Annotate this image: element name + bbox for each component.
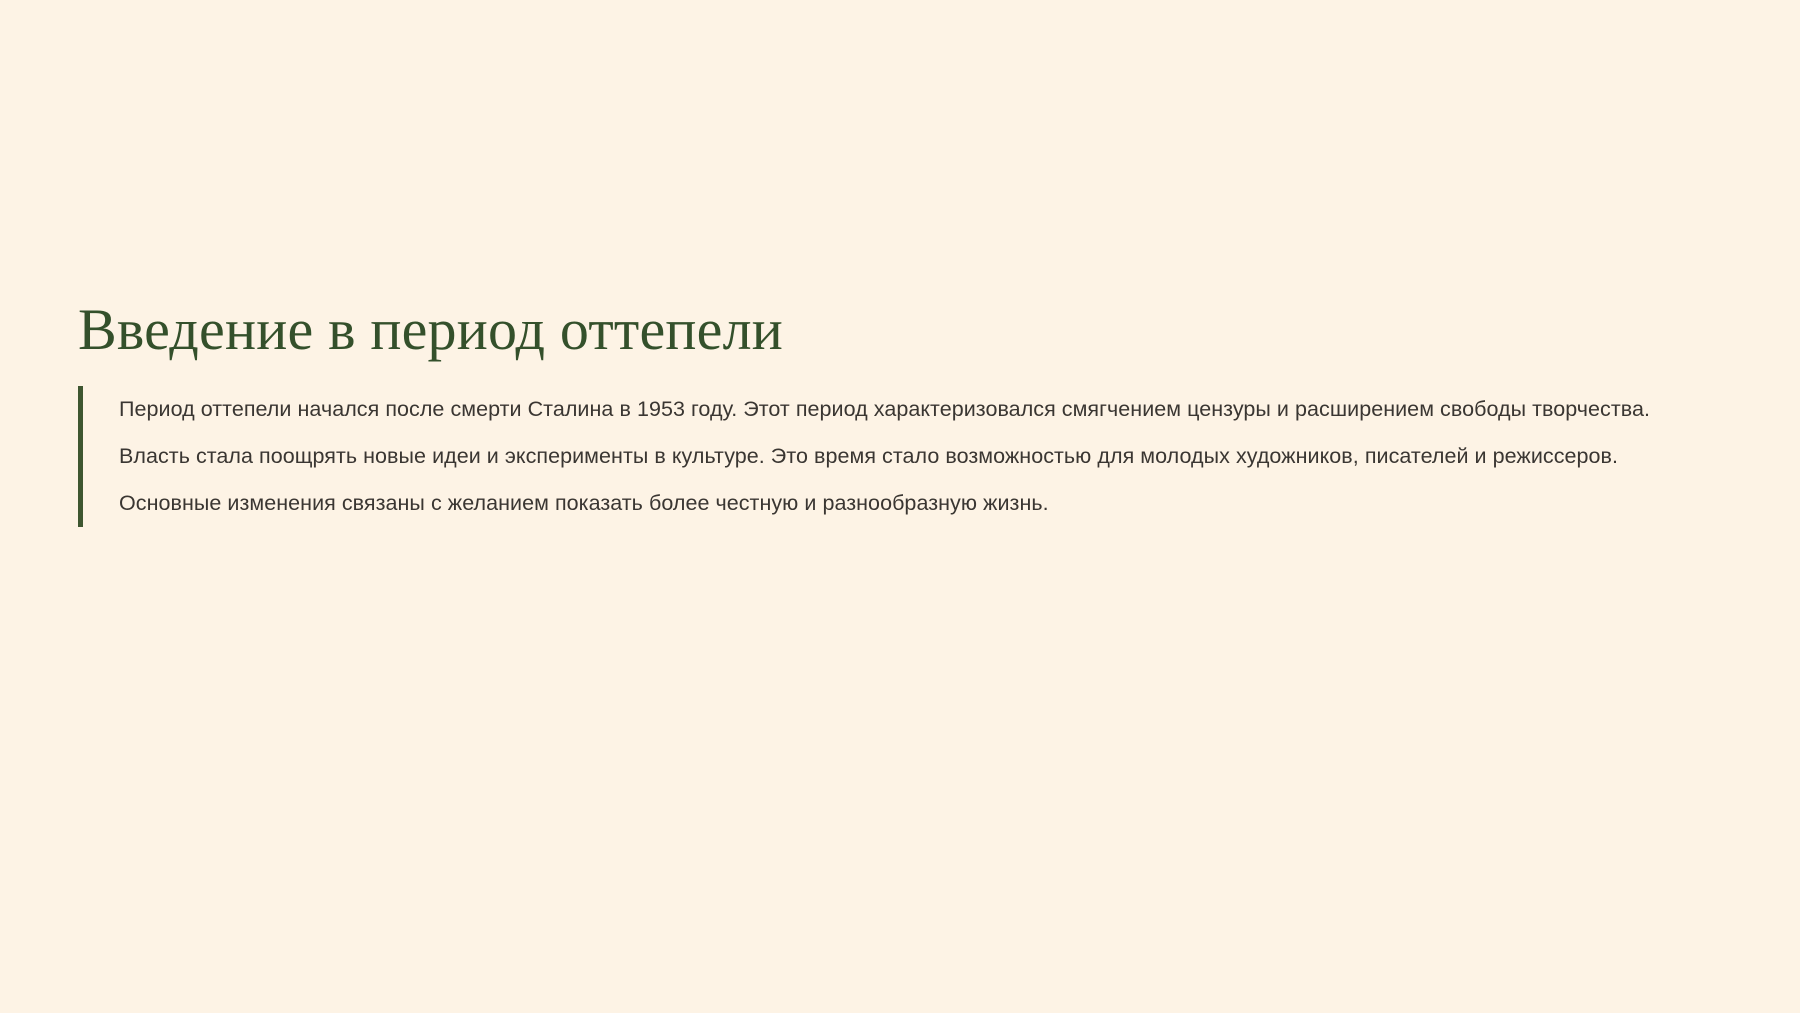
- slide-canvas: Введение в период оттепели Период оттепе…: [0, 0, 1800, 1013]
- slide-body-paragraph: Период оттепели начался после смерти Ста…: [119, 386, 1718, 527]
- slide-content-block: Введение в период оттепели Период оттепе…: [78, 296, 1718, 527]
- quote-accent-bar: Период оттепели начался после смерти Ста…: [78, 386, 1718, 527]
- page-title: Введение в период оттепели: [78, 296, 1718, 364]
